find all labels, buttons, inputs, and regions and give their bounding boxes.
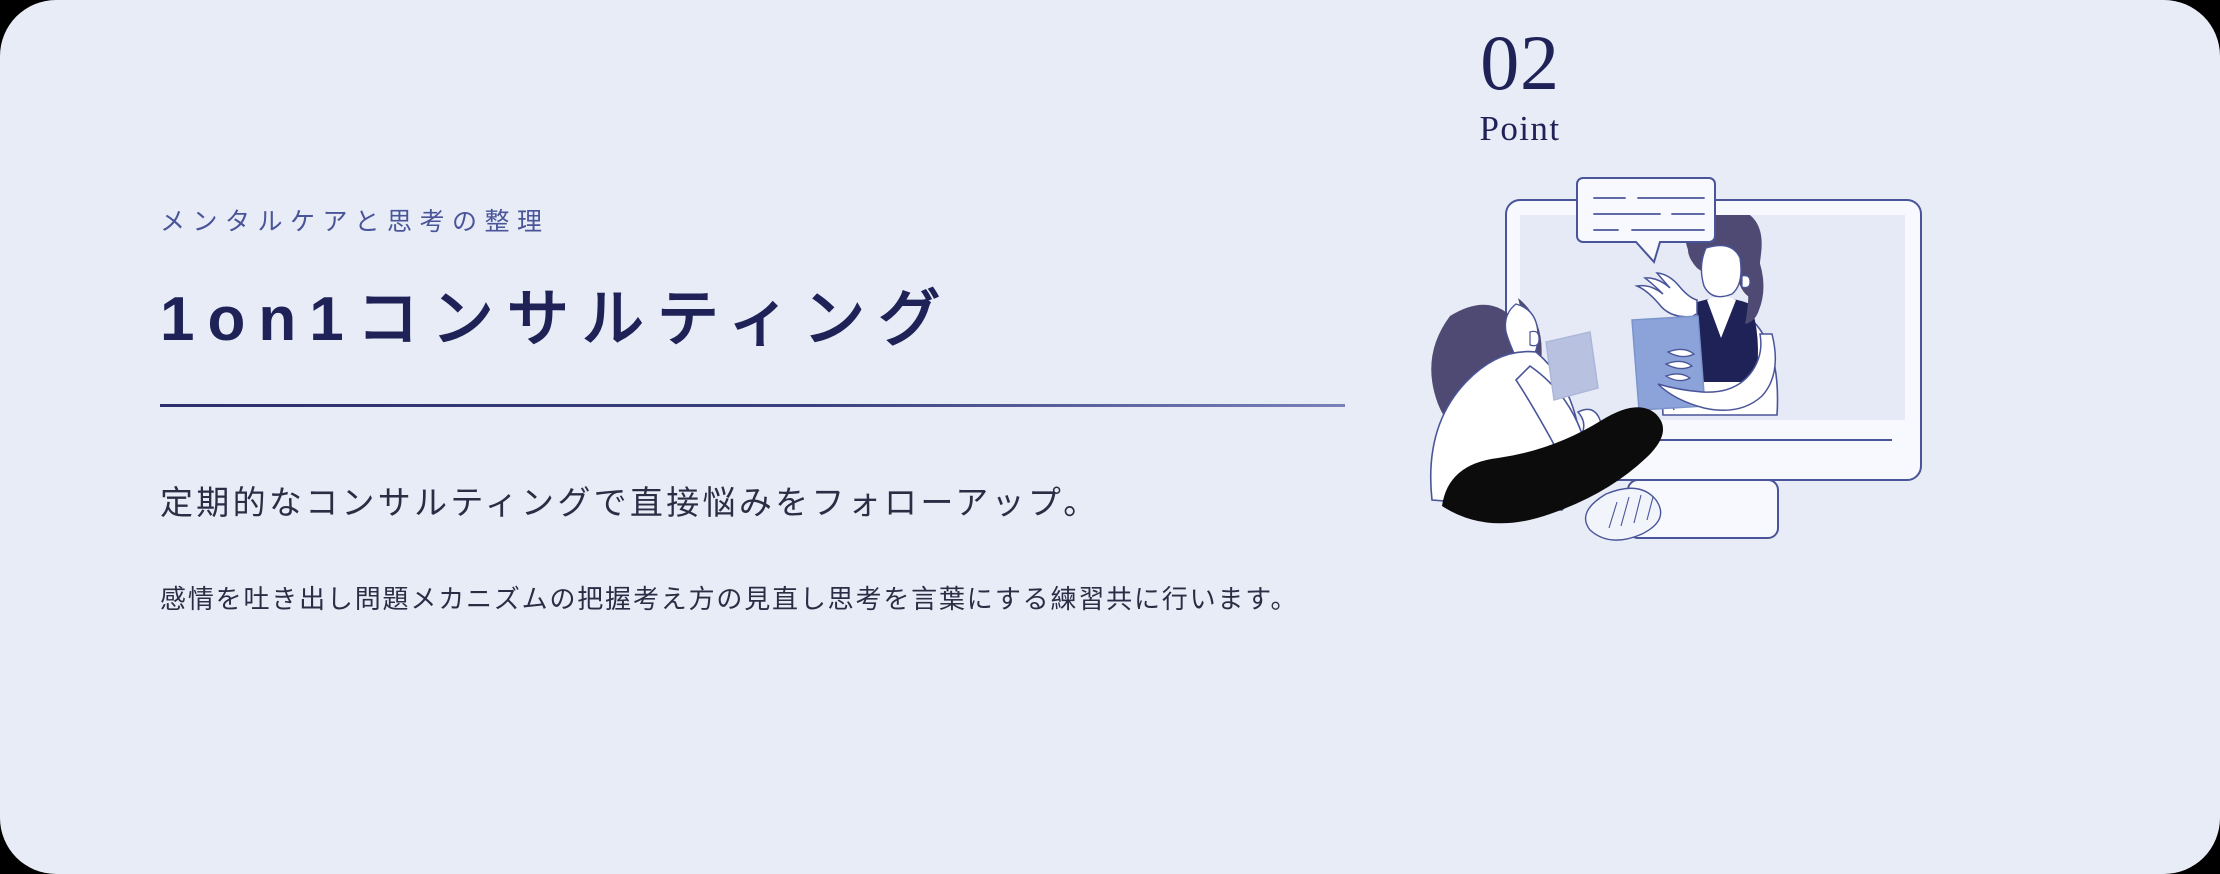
point-number: 02 — [1400, 22, 1640, 104]
lead-paragraph: 定期的なコンサルティングで直接悩みをフォローアップ。 — [160, 478, 1100, 528]
promo-card: メンタルケアと思考の整理 1on1コンサルティング 定期的なコンサルティングで直… — [0, 0, 2220, 874]
smartphone — [1546, 332, 1598, 400]
text-column: メンタルケアと思考の整理 1on1コンサルティング 定期的なコンサルティングで直… — [160, 0, 1360, 874]
online-1on1-consulting-illustration — [1420, 120, 2160, 550]
body-paragraph: 感情を吐き出し問題メカニズムの把握考え方の見直し思考を言葉にする練習共に行います… — [160, 578, 1360, 620]
title-divider — [160, 404, 1345, 407]
page-title: 1on1コンサルティング — [160, 282, 953, 358]
eyebrow-label: メンタルケアと思考の整理 — [160, 210, 550, 235]
